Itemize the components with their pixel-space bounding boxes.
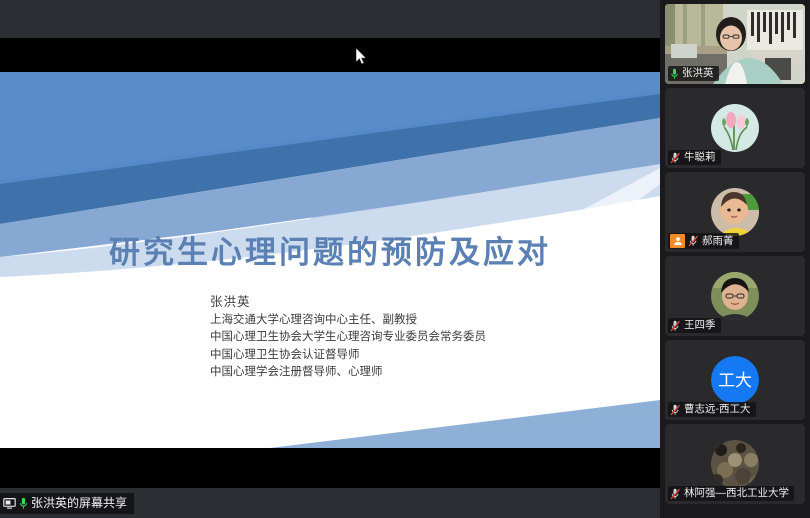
- participant-name: 牛聪莉: [684, 151, 716, 164]
- avatar-image: [711, 188, 759, 236]
- participant-namebar: 张洪英: [668, 66, 719, 81]
- microphone-muted-icon: [688, 235, 699, 247]
- participant-tile[interactable]: 王四季: [665, 256, 805, 336]
- avatar-image: 工大: [711, 356, 759, 404]
- avatar: [711, 188, 759, 236]
- participant-tile[interactable]: 林阿强—西北工业大学: [665, 424, 805, 504]
- slide-title: 研究生心理问题的预防及应对: [0, 227, 660, 272]
- microphone-muted-icon: [670, 152, 681, 164]
- screen-share-status-badge: 张洪英的屏幕共享: [0, 493, 134, 514]
- avatar: [711, 104, 759, 152]
- participant-namebar: 林阿强—西北工业大学: [668, 486, 794, 501]
- microphone-muted-icon: [670, 488, 681, 500]
- avatar: 工大: [711, 356, 759, 404]
- remote-window-titlebar: [0, 0, 660, 39]
- participant-name: 张洪英: [682, 67, 714, 80]
- presenter-credential: 中国心理卫生协会认证督导师: [210, 347, 486, 365]
- avatar: [711, 440, 759, 488]
- letterbox-bottom: [0, 448, 660, 488]
- participant-name: 王四季: [684, 319, 716, 332]
- share-status-label: 张洪英的屏幕共享: [31, 497, 127, 510]
- participant-tile[interactable]: 工大 曹志远-西工大: [665, 340, 805, 420]
- participant-name: 曹志远-西工大: [684, 403, 751, 416]
- avatar-image: [711, 272, 759, 320]
- letterbox-top: [0, 38, 660, 72]
- participant-namebar: 王四季: [668, 318, 721, 333]
- presentation-slide: 研究生心理问题的预防及应对 张洪英 上海交通大学心理咨询中心主任、副教授 中国心…: [0, 72, 660, 448]
- monitor-icon: [3, 497, 16, 510]
- avatar-image: [711, 440, 759, 488]
- participant-name: 郝雨菁: [702, 235, 734, 248]
- participant-video-strip[interactable]: 张洪英: [660, 0, 810, 518]
- meeting-screen-share-window: 研究生心理问题的预防及应对 张洪英 上海交通大学心理咨询中心主任、副教授 中国心…: [0, 0, 810, 518]
- microphone-muted-icon: [670, 320, 681, 332]
- participant-name: 林阿强—西北工业大学: [684, 487, 789, 500]
- microphone-muted-icon: [670, 404, 681, 416]
- slide-presenter-block: 张洪英 上海交通大学心理咨询中心主任、副教授 中国心理卫生协会大学生心理咨询专业…: [210, 294, 486, 382]
- participant-namebar: 曹志远-西工大: [668, 402, 756, 417]
- presenter-credential: 上海交通大学心理咨询中心主任、副教授: [210, 312, 486, 330]
- host-person-icon: [673, 236, 683, 246]
- microphone-icon: [670, 68, 679, 80]
- avatar: [711, 272, 759, 320]
- participant-namebar: 牛聪莉: [668, 150, 721, 165]
- microphone-icon: [19, 497, 28, 510]
- shared-screen-area: 研究生心理问题的预防及应对 张洪英 上海交通大学心理咨询中心主任、副教授 中国心…: [0, 0, 660, 518]
- participant-namebar: 郝雨菁: [668, 233, 739, 249]
- participant-tile[interactable]: 牛聪莉: [665, 88, 805, 168]
- participant-tile-active-speaker[interactable]: 张洪英: [665, 4, 805, 84]
- host-badge: [670, 234, 685, 248]
- mouse-pointer-icon: [356, 48, 368, 66]
- presenter-credential: 中国心理学会注册督导师、心理师: [210, 364, 486, 382]
- avatar-image: [711, 104, 759, 152]
- presenter-name: 张洪英: [210, 294, 486, 312]
- avatar-initials: 工大: [718, 371, 752, 390]
- participant-tile[interactable]: 郝雨菁: [665, 172, 805, 252]
- presenter-credential: 中国心理卫生协会大学生心理咨询专业委员会常务委员: [210, 329, 486, 347]
